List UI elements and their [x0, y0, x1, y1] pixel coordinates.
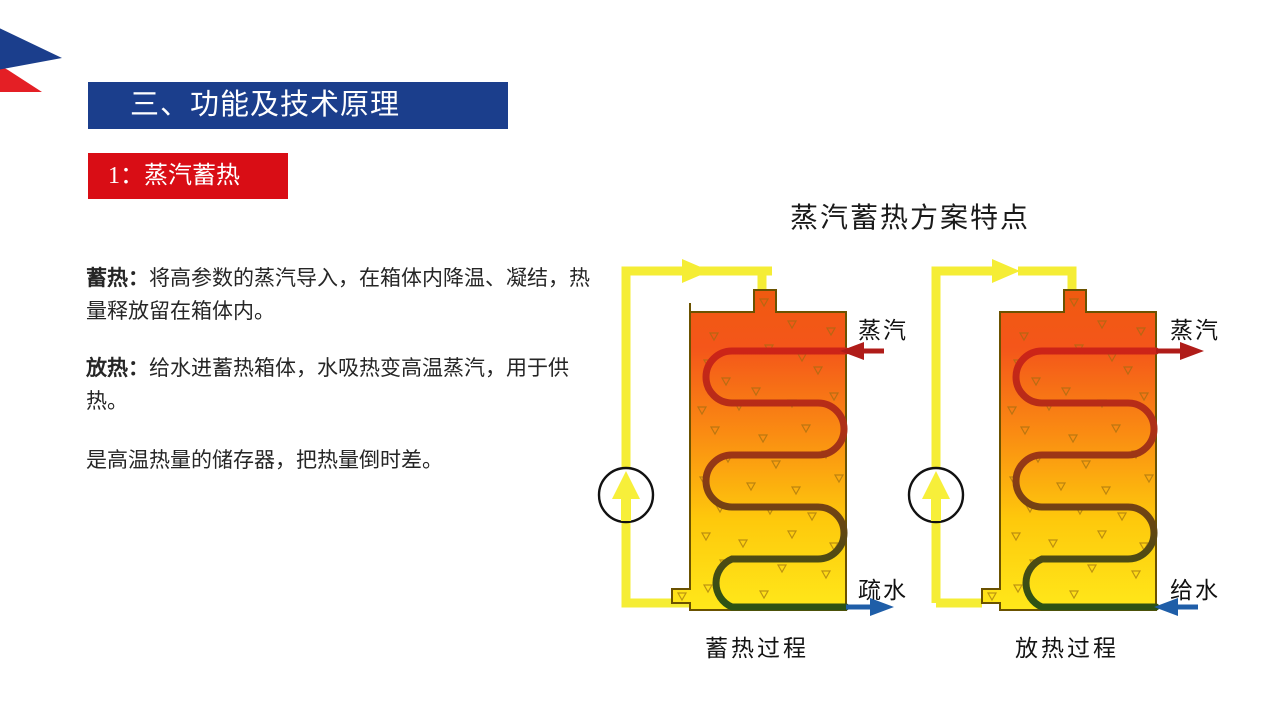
section-banner-label: 三、功能及技术原理: [88, 91, 400, 120]
logo-chevron-icon: [0, 0, 80, 110]
body-copy: 蓄热：将高参数的蒸汽导入，在箱体内降温、凝结，热量释放留在箱体内。 放热：给水进…: [86, 262, 602, 487]
pump-icon: [909, 468, 963, 522]
paragraph-release-text: 给水进蓄热箱体，水吸热变高温蒸汽，用于供热。: [86, 356, 569, 413]
paragraph-summary-text: 是高温热量的储存器，把热量倒时差。: [86, 448, 443, 472]
section-banner: 三、功能及技术原理: [88, 82, 508, 129]
drain-port-label: 疏水: [858, 571, 908, 605]
paragraph-storage-lead: 蓄热：: [86, 266, 149, 290]
diagram-title: 蒸汽蓄热方案特点: [700, 196, 1120, 236]
figure-charging-caption: 蓄热过程: [592, 629, 922, 663]
feedwater-port-label: 给水: [1170, 571, 1220, 605]
topic-banner-label: 1：蒸汽蓄热: [88, 164, 240, 188]
figure-discharging-caption: 放热过程: [902, 629, 1232, 663]
figure-charging: 蒸汽 疏水 蓄热过程: [592, 255, 922, 665]
flow-arrow-icon: [682, 259, 710, 283]
paragraph-storage-text: 将高参数的蒸汽导入，在箱体内降温、凝结，热量释放留在箱体内。: [86, 266, 590, 323]
topic-banner: 1：蒸汽蓄热: [88, 153, 288, 199]
paragraph-storage: 蓄热：将高参数的蒸汽导入，在箱体内降温、凝结，热量释放留在箱体内。: [86, 262, 602, 328]
corner-logo: [0, 0, 80, 110]
flow-arrow-icon: [992, 259, 1020, 283]
paragraph-release-lead: 放热：: [86, 356, 149, 380]
figure-discharging: 蒸汽 给水 放热过程: [902, 255, 1232, 665]
steam-port-label: 蒸汽: [858, 311, 908, 345]
paragraph-release: 放热：给水进蓄热箱体，水吸热变高温蒸汽，用于供热。: [86, 352, 602, 418]
pump-icon: [599, 468, 653, 522]
slide-canvas: 三、功能及技术原理 1：蒸汽蓄热 蓄热：将高参数的蒸汽导入，在箱体内降温、凝结，…: [0, 0, 1280, 720]
paragraph-summary: 是高温热量的储存器，把热量倒时差。: [86, 444, 602, 477]
steam-port-label: 蒸汽: [1170, 311, 1220, 345]
